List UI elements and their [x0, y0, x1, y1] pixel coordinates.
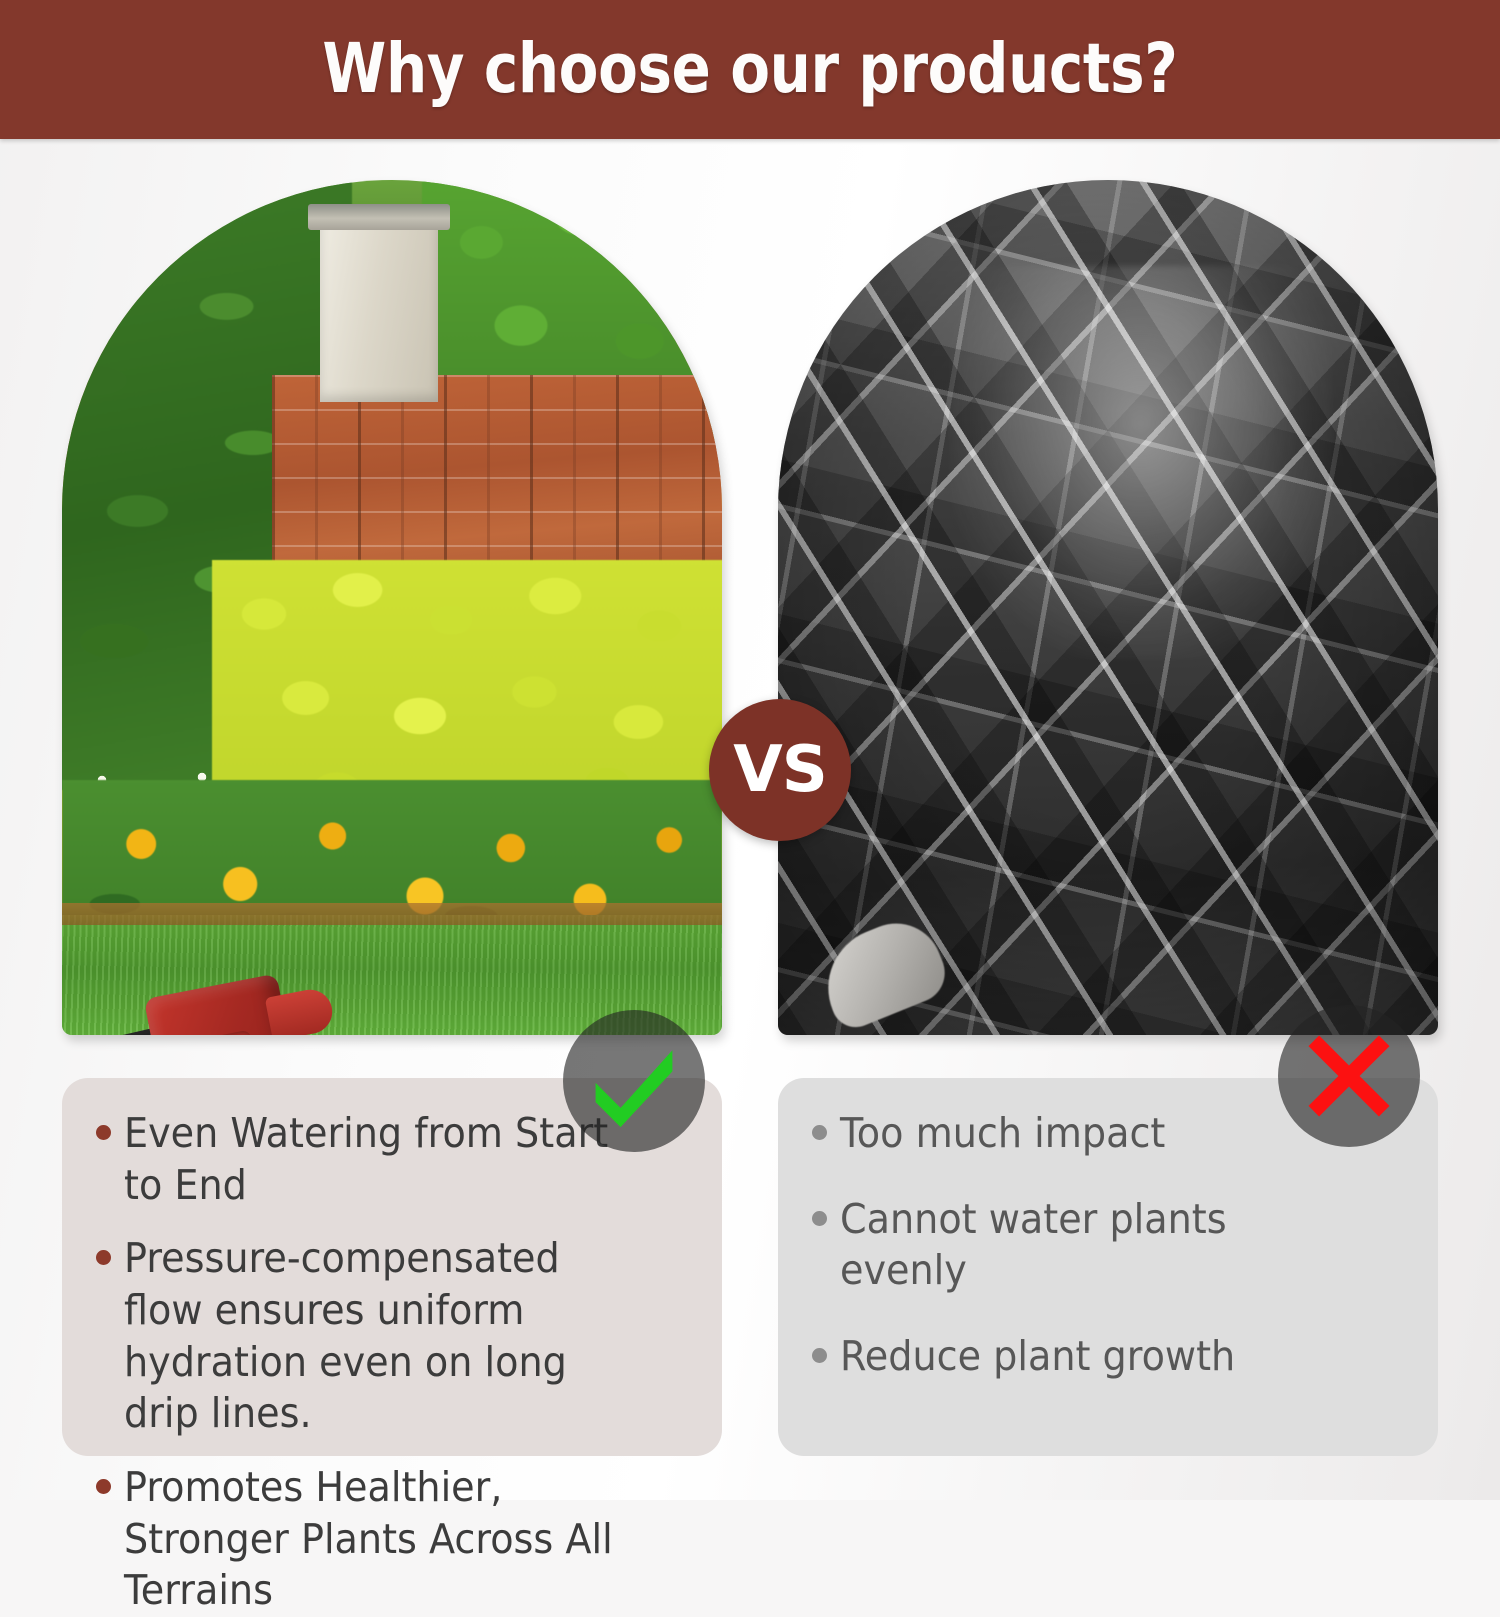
- header-banner: Why choose our products?: [0, 0, 1500, 139]
- cross-icon: [1305, 1032, 1393, 1120]
- good-photo-scene: [62, 180, 722, 1035]
- good-status-badge: [563, 1010, 705, 1152]
- list-item-label: Promotes Healthier, Stronger Plants Acro…: [124, 1462, 649, 1617]
- good-product-image: [62, 180, 722, 1035]
- comparison-row: VS: [0, 139, 1500, 1069]
- check-icon: [586, 1033, 682, 1129]
- page-title: Why choose our products?: [322, 35, 1177, 104]
- vs-badge: VS: [709, 699, 851, 841]
- list-item-label: Pressure-compensated flow ensures unifor…: [124, 1233, 649, 1440]
- bullet-icon: [96, 1479, 111, 1494]
- list-item: Promotes Healthier, Stronger Plants Acro…: [96, 1462, 688, 1617]
- photo-vignette: [778, 180, 1438, 1035]
- bullet-icon: [812, 1211, 827, 1226]
- bullet-icon: [96, 1250, 111, 1265]
- list-item-label: Even Watering from Start to End: [124, 1108, 649, 1211]
- benefit-panels: Even Watering from Start to End Pressure…: [0, 1078, 1500, 1478]
- bad-product-image: [778, 180, 1438, 1035]
- list-item: Cannot water plants evenly: [812, 1194, 1404, 1297]
- bad-photo-scene: [778, 180, 1438, 1035]
- good-bullet-list: Even Watering from Start to End Pressure…: [96, 1108, 688, 1617]
- bullet-icon: [96, 1125, 111, 1140]
- vs-label: VS: [733, 738, 827, 802]
- list-item-label: Too much impact: [840, 1108, 1165, 1160]
- bad-bullet-list: Too much impact Cannot water plants even…: [812, 1108, 1404, 1383]
- list-item: Pressure-compensated flow ensures unifor…: [96, 1233, 688, 1440]
- stone-pillar: [320, 222, 438, 402]
- bad-status-badge: [1278, 1005, 1420, 1147]
- bullet-icon: [812, 1348, 827, 1363]
- list-item-label: Reduce plant growth: [840, 1331, 1235, 1383]
- list-item: Reduce plant growth: [812, 1331, 1404, 1383]
- list-item-label: Cannot water plants evenly: [840, 1194, 1365, 1297]
- bullet-icon: [812, 1125, 827, 1140]
